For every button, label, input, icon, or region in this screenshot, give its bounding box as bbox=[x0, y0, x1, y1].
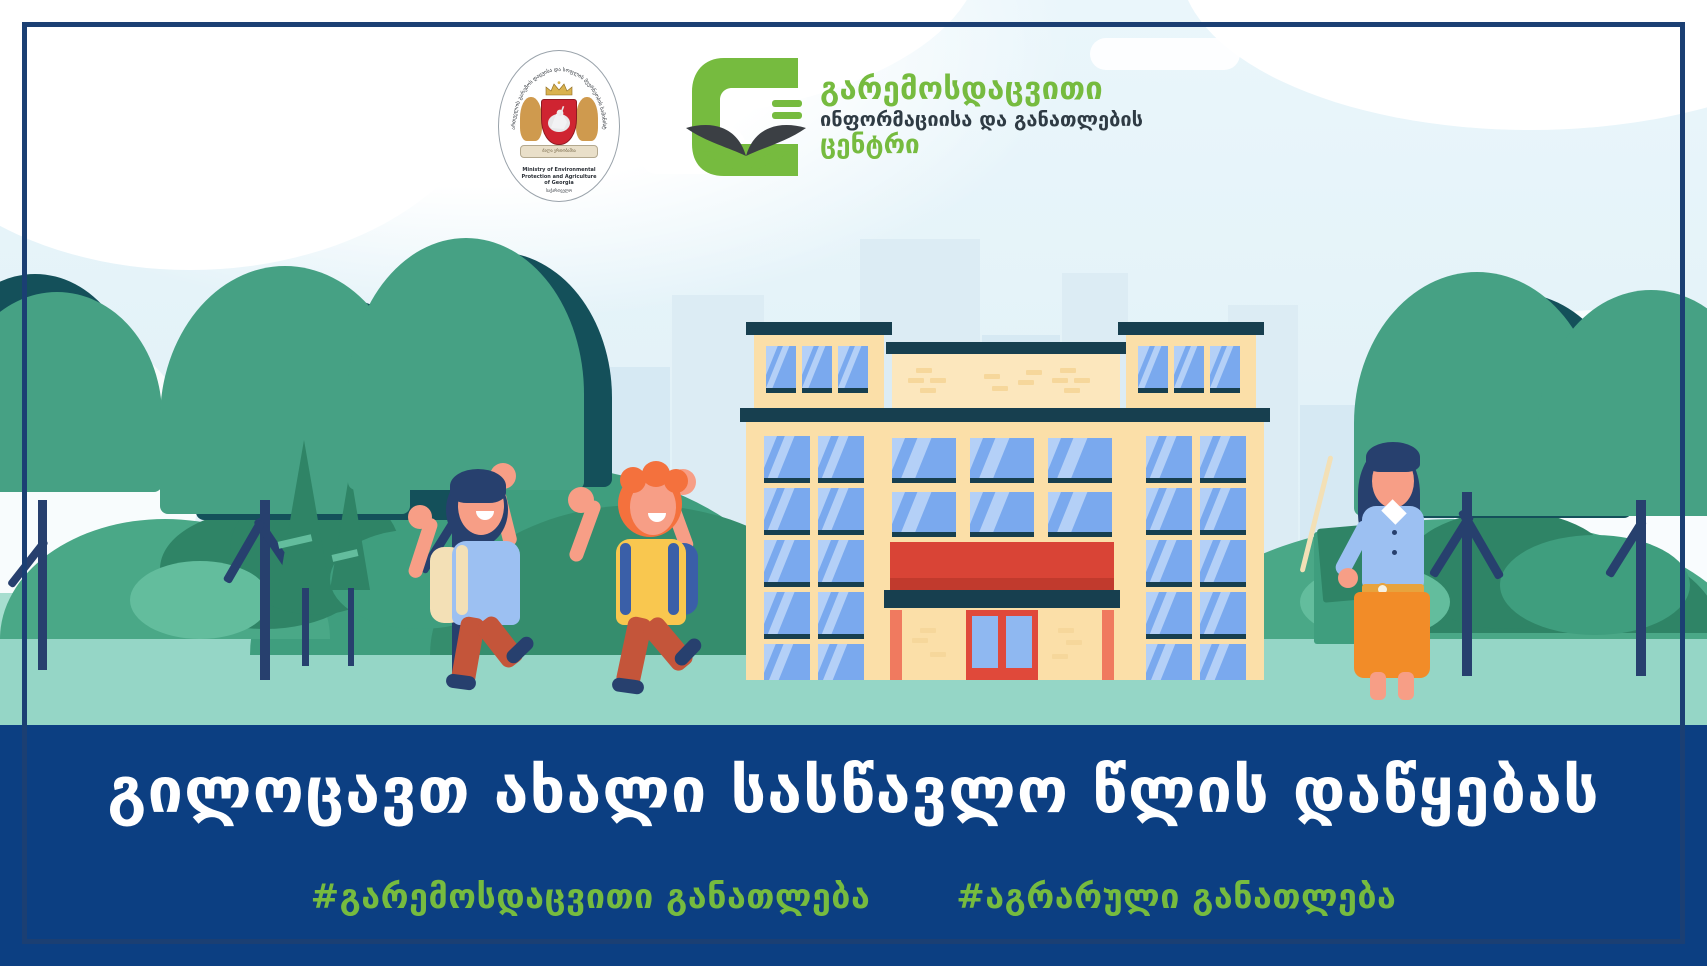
motto-ribbon: ძალა ერთობაშია bbox=[520, 145, 598, 158]
gec-line-1: გარემოსდაცვითი bbox=[820, 74, 1150, 106]
bottom-banner: გილოცავთ ახალი სასწავლო წლის დაწყებას #გ… bbox=[0, 725, 1707, 966]
shield-st-george bbox=[541, 99, 577, 145]
boy-student bbox=[560, 455, 740, 685]
emblem-name-en-line1: Ministry of Environmental bbox=[499, 167, 619, 174]
open-book-bracket-logo-icon bbox=[680, 52, 810, 180]
gec-line-3: ცენტრი bbox=[820, 132, 1150, 159]
gec-logo-text: გარემოსდაცვითი ინფორმაციისა და განათლები… bbox=[820, 74, 1150, 159]
gec-line-2: ინფორმაციისა და განათლების bbox=[820, 108, 1150, 131]
emblem-name-en: Ministry of Environmental Protection and… bbox=[499, 167, 619, 187]
gec-logo: გარემოსდაცვითი ინფორმაციისა და განათლები… bbox=[680, 52, 1150, 192]
teacher bbox=[1300, 440, 1460, 690]
emblem-name-en-line3: of Georgia bbox=[499, 180, 619, 187]
ministry-emblem: საქართველოს გარემოს დაცვისა და სოფლის მე… bbox=[498, 50, 620, 202]
hashtags: #გარემოსდაცვითი განათლება #აგრარული განა… bbox=[0, 877, 1707, 917]
bush bbox=[1500, 535, 1690, 635]
st-george-icon bbox=[542, 100, 576, 144]
hashtag-agrarian-education: #აგრარული განათლება bbox=[956, 877, 1396, 917]
hashtag-environmental-education: #გარემოსდაცვითი განათლება bbox=[311, 877, 871, 917]
entrance-door bbox=[966, 610, 1038, 680]
entrance-awning bbox=[890, 542, 1114, 590]
bush bbox=[130, 561, 270, 639]
tree bbox=[1538, 290, 1707, 530]
lion-supporter-left bbox=[520, 97, 542, 141]
headline-text: გილოცავთ ახალი სასწავლო წლის დაწყებას bbox=[0, 759, 1707, 822]
header-logos: საქართველოს გარემოს დაცვისა და სოფლის მე… bbox=[0, 0, 1707, 230]
school-building bbox=[740, 280, 1270, 680]
lion-supporter-right bbox=[576, 97, 598, 141]
motto-text: ძალა ერთობაშია bbox=[521, 146, 597, 155]
tree-trunk bbox=[302, 588, 309, 666]
banner-image: საქართველოს გარემოს დაცვისა და სოფლის მე… bbox=[0, 0, 1707, 966]
girl-student bbox=[400, 455, 580, 685]
emblem-name-ka: საქართველო bbox=[499, 188, 619, 193]
tree-trunk bbox=[38, 500, 47, 670]
emblem-name-en-line2: Protection and Agriculture bbox=[499, 174, 619, 181]
tree-trunk bbox=[348, 588, 354, 666]
crown-icon bbox=[544, 81, 574, 97]
conifer-tree bbox=[278, 440, 330, 590]
